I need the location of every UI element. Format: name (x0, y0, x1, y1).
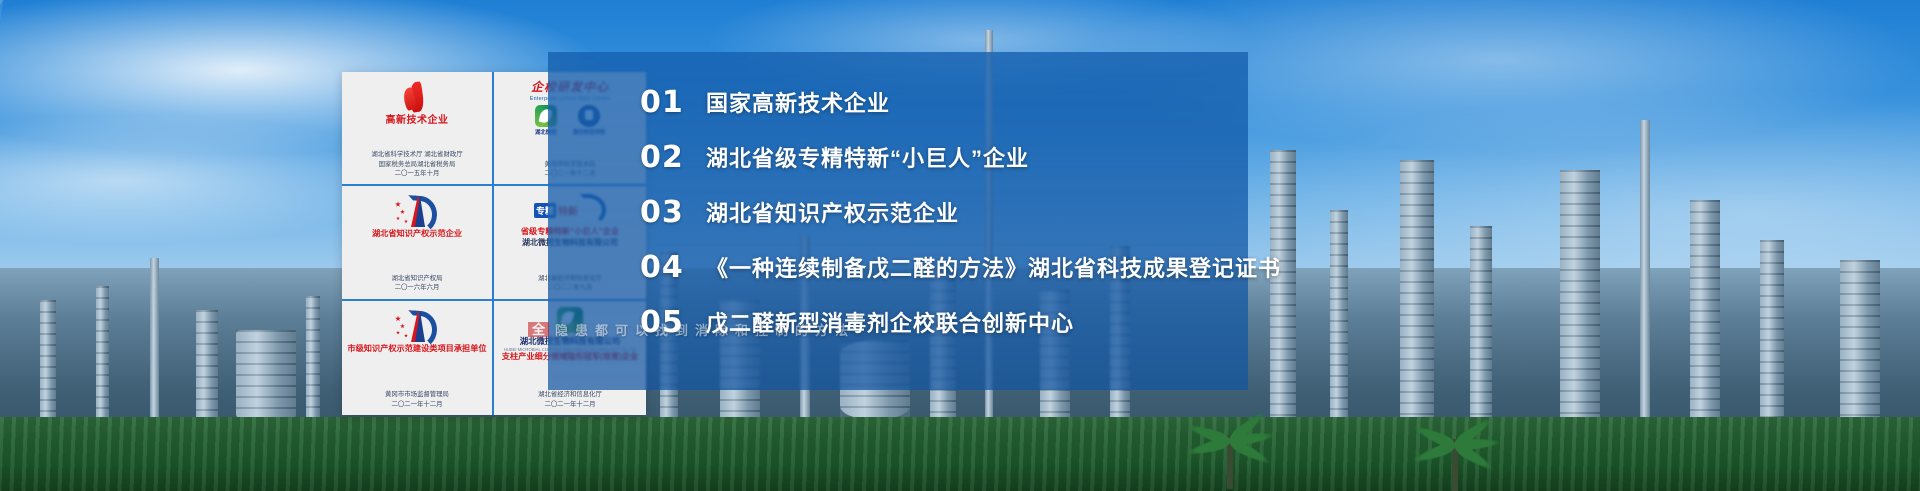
flame-icon (404, 80, 430, 114)
certificate-card-municipal-ipr[interactable]: 市级知识产权示范建设类项目承担单位 黄冈市市场监督管理局 二〇二一年十二月 (342, 301, 494, 415)
grass-strip (0, 417, 1920, 491)
plant-tower-right-2 (1330, 210, 1348, 430)
ipr-sail-icon (395, 309, 439, 343)
honor-item-03[interactable]: 03 湖北省知识产权示范企业 (640, 188, 1260, 236)
plant-tower-right-4 (1470, 226, 1492, 430)
honor-number: 02 (640, 140, 706, 175)
plant-tower-right-5 (1560, 170, 1600, 430)
honor-item-02[interactable]: 02 湖北省级专精特新“小巨人”企业 (640, 133, 1260, 181)
plant-tower-right-8 (1840, 260, 1880, 430)
plant-tower-left-1 (40, 300, 56, 420)
ipr-sail-icon (395, 194, 439, 228)
banner-badge: 全 (528, 322, 549, 337)
honor-text: 湖北省知识产权示范企业 (706, 196, 959, 228)
honor-item-04[interactable]: 04 《一种连续制备戊二醛的方法》湖北省科技成果登记证书 (640, 243, 1260, 291)
honor-number: 01 (640, 85, 706, 120)
plant-tower-left-2 (96, 286, 109, 420)
certificate-issuer: 湖北省科学技术厅 湖北省财政厅 国家税务总局湖北省税务局 二〇一五年十月 (371, 150, 462, 180)
honor-text: 湖北省级专精特新“小巨人”企业 (706, 141, 1029, 173)
plant-stack-left (150, 258, 159, 420)
honor-text: 《一种连续制备戊二醛的方法》湖北省科技成果登记证书 (706, 251, 1281, 283)
certificate-issuer: 黄冈市市场监督管理局 二〇二一年十二月 (385, 390, 449, 411)
certificate-card-high-tech[interactable]: 高新技术企业 湖北省科学技术厅 湖北省财政厅 国家税务总局湖北省税务局 二〇一五… (342, 72, 494, 186)
plant-tower-left-4 (306, 296, 320, 420)
plant-tower-left-3 (196, 310, 218, 420)
banner-stage: 高新技术企业 湖北省科学技术厅 湖北省财政厅 国家税务总局湖北省税务局 二〇一五… (0, 0, 1920, 491)
honor-item-01[interactable]: 01 国家高新技术企业 (640, 78, 1260, 126)
honor-number: 04 (640, 250, 706, 285)
honors-list: 01 国家高新技术企业 02 湖北省级专精特新“小巨人”企业 03 湖北省知识产… (640, 78, 1260, 353)
honor-text: 国家高新技术企业 (706, 86, 890, 118)
plant-tower-right-7 (1760, 240, 1784, 430)
certificate-title: 高新技术企业 (386, 115, 449, 127)
plant-tower-right-1 (1270, 150, 1296, 430)
honor-item-05[interactable]: 05 戊二醛新型消毒剂企校联合创新中心 (640, 298, 1260, 346)
plant-tower-right-6 (1690, 200, 1720, 430)
plant-tank-left (236, 330, 296, 418)
certificate-card-ipr-demo[interactable]: 湖北省知识产权示范企业 湖北省知识产权局 二〇一六年六月 (342, 186, 494, 300)
plant-stack-right (1640, 120, 1650, 430)
honor-number: 05 (640, 305, 706, 340)
plant-tower-right-3 (1400, 160, 1434, 430)
certificate-issuer: 湖北省知识产权局 二〇一六年六月 (391, 274, 442, 295)
honor-number: 03 (640, 195, 706, 230)
certificate-issuer: 湖北省经济和信息化厅 二〇二一年十二月 (538, 390, 602, 411)
honor-text: 戊二醛新型消毒剂企校联合创新中心 (706, 306, 1074, 338)
